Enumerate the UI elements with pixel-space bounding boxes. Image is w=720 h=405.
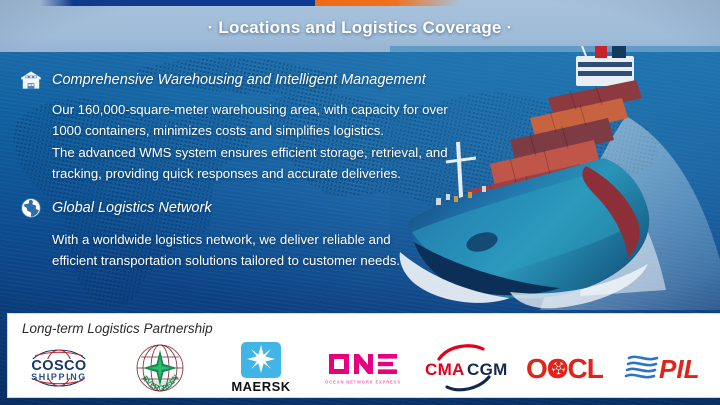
svg-text:MAERSK: MAERSK: [232, 379, 291, 394]
top-accent-bar: [0, 0, 720, 6]
body-line: efficient transportation solutions tailo…: [52, 250, 458, 271]
globe-icon: [18, 196, 44, 220]
partner-logo-one[interactable]: OCEAN NETWORK EXPRESS ONE: [312, 341, 413, 395]
slide-canvas: · Locations and Logistics Coverage · Com…: [0, 0, 720, 405]
body-line: With a worldwide logistics network, we d…: [52, 229, 458, 250]
section-body: Our 160,000-square-meter warehousing are…: [52, 99, 478, 185]
section-body: With a worldwide logistics network, we d…: [52, 229, 458, 272]
page-title: · Locations and Logistics Coverage ·: [0, 18, 720, 38]
body-line: The advanced WMS system ensures efficien…: [52, 142, 478, 163]
section-heading-row: Comprehensive Warehousing and Intelligen…: [18, 68, 478, 92]
partner-logo-cma-cgm[interactable]: CMA CGM CMA CGM: [413, 341, 517, 395]
body-line: Our 160,000-square-meter warehousing are…: [52, 99, 478, 120]
partners-title: Long-term Logistics Partnership: [22, 321, 213, 336]
section-heading: Comprehensive Warehousing and Intelligen…: [52, 72, 426, 88]
partners-panel: Long-term Logistics Partnership COSCO SH…: [8, 314, 720, 397]
partner-logo-cosco-shipping[interactable]: COSCO SHIPPING COSCO SHIPPING: [8, 341, 109, 395]
partner-logo-pil[interactable]: PIL PIL: [619, 341, 720, 395]
accent-segment-orange: [315, 0, 460, 6]
section-heading: Global Logistics Network: [52, 200, 212, 216]
partner-logo-row: COSCO SHIPPING COSCO SHIPPING: [8, 341, 720, 395]
svg-text:SHIPPING: SHIPPING: [31, 372, 87, 382]
body-line: 1000 containers, minimizes costs and sim…: [52, 120, 478, 141]
accent-segment-blue: [40, 0, 315, 6]
section-warehousing: Comprehensive Warehousing and Intelligen…: [18, 68, 478, 185]
svg-text:CMA: CMA: [425, 360, 465, 379]
warehouse-icon: [18, 68, 44, 92]
svg-text:PIL: PIL: [659, 354, 699, 384]
body-line: tracking, providing quick responses and …: [52, 163, 478, 184]
svg-text:CGM: CGM: [467, 360, 508, 379]
section-heading-row: Global Logistics Network: [18, 196, 458, 220]
partner-logo-evergreen[interactable]: E V E R G R E E N EVERGREEN: [109, 341, 210, 395]
partner-logo-maersk[interactable]: MAERSK MAERSK: [211, 341, 312, 395]
svg-text:OCEAN NETWORK EXPRESS: OCEAN NETWORK EXPRESS: [325, 380, 401, 385]
partner-logo-oocl[interactable]: OOCL OOCL: [517, 341, 618, 395]
section-global-network: Global Logistics Network With a worldwid…: [18, 196, 458, 272]
